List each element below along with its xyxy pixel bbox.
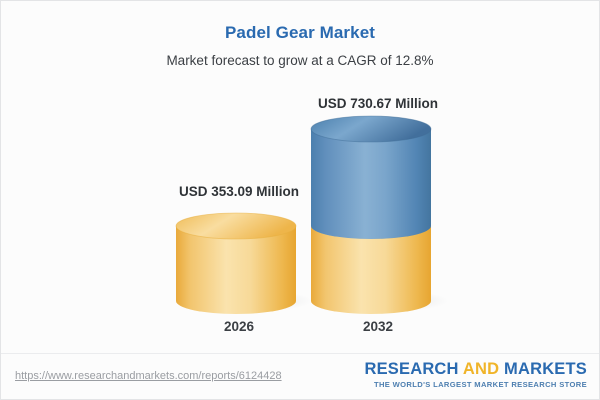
research-and-markets-logo[interactable]: RESEARCH AND MARKETS THE WORLD'S LARGEST…	[364, 361, 587, 389]
infographic-card: Padel Gear Market Market forecast to gro…	[0, 0, 600, 400]
logo-word-research: RESEARCH	[364, 360, 458, 378]
category-label-2032: 2032	[308, 319, 448, 334]
report-url-link[interactable]: https://www.researchandmarkets.com/repor…	[15, 370, 282, 382]
bar-group-2026: USD 353.09 Million	[174, 1, 304, 353]
footer: https://www.researchandmarkets.com/repor…	[1, 353, 600, 400]
chart-plot-area: USD 353.09 Million	[1, 1, 600, 353]
category-label-2026: 2026	[174, 319, 304, 334]
logo-tagline: THE WORLD'S LARGEST MARKET RESEARCH STOR…	[364, 380, 587, 389]
logo-word-and: AND	[463, 360, 499, 378]
cylinder-2032	[308, 1, 448, 353]
logo-wordmark: RESEARCH AND MARKETS	[364, 361, 587, 378]
bar-group-2032: USD 730.67 Million	[308, 1, 448, 353]
cylinder-2026	[174, 1, 304, 353]
logo-word-markets: MARKETS	[504, 360, 587, 378]
